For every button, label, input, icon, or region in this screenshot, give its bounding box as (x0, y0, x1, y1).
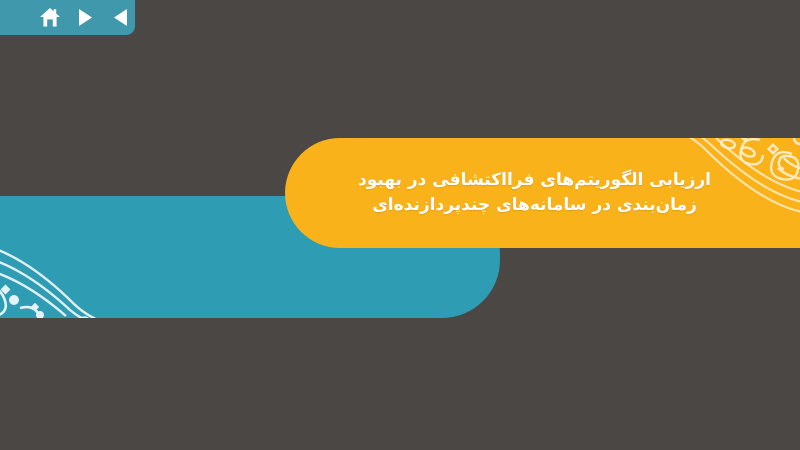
title-line-2: زمان‌بندی در سامانه‌های چندپردازنده‌ای (358, 193, 711, 218)
orange-band: ارزیابی الگوریتم‌های فرااکتشافی در بهبود… (285, 138, 800, 248)
title-line-1: ارزیابی الگوریتم‌های فرااکتشافی در بهبود (358, 168, 711, 193)
triangle-left-icon (112, 8, 129, 27)
slide-title: ارزیابی الگوریتم‌های فرااکتشافی در بهبود… (348, 168, 737, 218)
slide-canvas: ارزیابی الگوریتم‌های فرااکتشافی در بهبود… (0, 0, 800, 450)
next-button[interactable] (70, 5, 100, 31)
home-button[interactable] (35, 5, 65, 31)
triangle-right-icon (77, 8, 94, 27)
previous-button[interactable] (105, 5, 135, 31)
home-icon (39, 7, 61, 28)
arabesque-ornament-icon (0, 196, 174, 318)
navigation-bar (0, 0, 135, 35)
